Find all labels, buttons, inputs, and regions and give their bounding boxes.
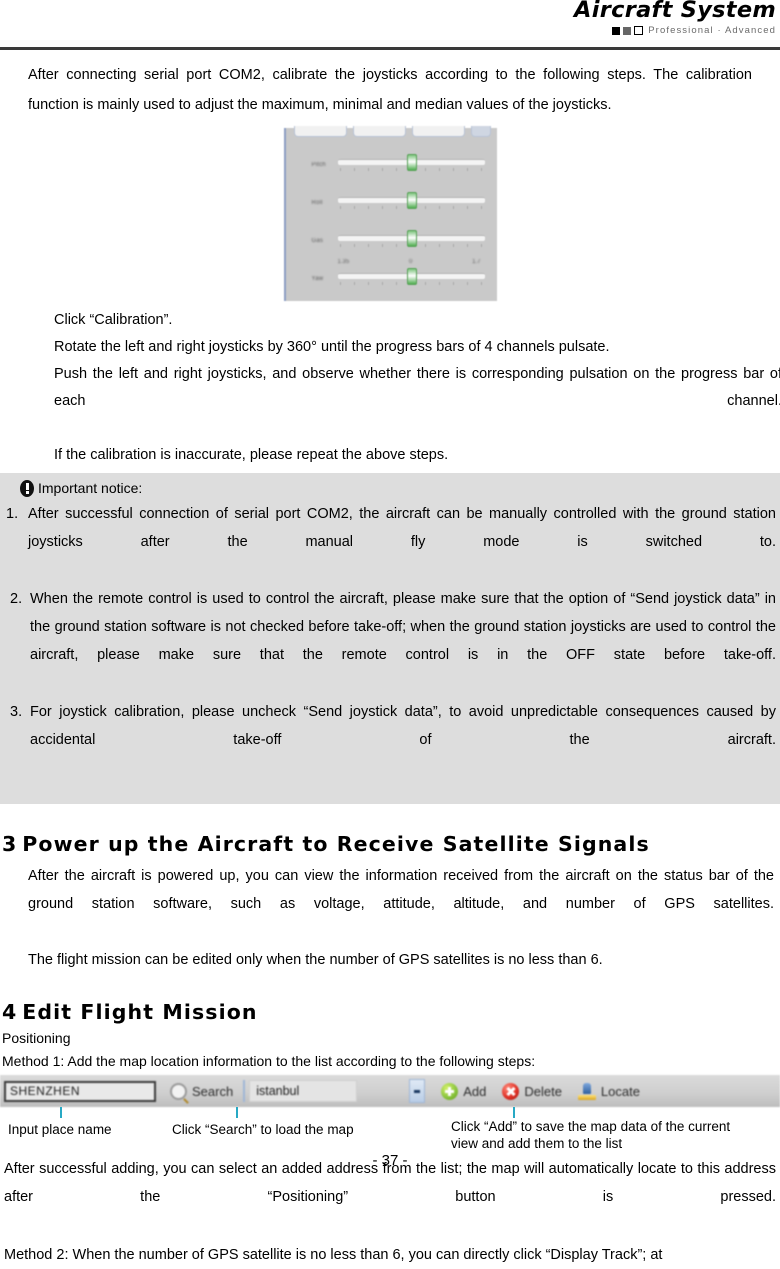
- channel-label-yaw: Yaw: [294, 276, 338, 282]
- channel-slider-gas[interactable]: [338, 235, 485, 247]
- locate-button-label: Locate: [601, 1084, 640, 1099]
- tail-paragraph-2: Method 2: When the number of GPS satelli…: [4, 1241, 776, 1269]
- channel-row-yaw: Yaw: [286, 260, 497, 298]
- calibration-figure: Pitch Roll: [2, 128, 778, 301]
- channel-label-gas: Gas: [294, 238, 338, 244]
- channel-label-pitch: Pitch: [294, 162, 338, 168]
- chevron-down-icon: [414, 1090, 420, 1093]
- callout-label-2: Click “Search” to load the map: [172, 1121, 354, 1138]
- map-toolbar-figure: SHENZHEN Search istanbul Add Delete Loca…: [0, 1075, 780, 1107]
- search-button[interactable]: Search: [170, 1083, 233, 1100]
- slider-thumb[interactable]: [407, 230, 417, 247]
- calibration-tab-2[interactable]: [353, 126, 406, 137]
- warning-exclamation-icon: [20, 480, 34, 497]
- channel-slider-pitch[interactable]: [338, 159, 485, 171]
- channel-slider-roll[interactable]: [338, 197, 485, 209]
- step-1: Click “Calibration”.: [54, 307, 778, 334]
- intro-paragraph: After connecting serial port COM2, calib…: [28, 60, 752, 120]
- calibration-tab-3[interactable]: [412, 126, 465, 137]
- channel-row-gas: Gas: [286, 222, 497, 260]
- section-3-paragraph-2: The flight mission can be edited only wh…: [28, 946, 774, 974]
- section-4-number: 4: [2, 1000, 16, 1024]
- notice-header: Important notice:: [4, 477, 776, 499]
- delete-button-label: Delete: [524, 1084, 562, 1099]
- notice-item: 1. After successful connection of serial…: [4, 500, 776, 584]
- locate-pin-icon: [578, 1083, 596, 1100]
- add-plus-icon: [441, 1083, 458, 1100]
- joystick-calibration-panel: Pitch Roll: [284, 128, 497, 301]
- page-content: After connecting serial port COM2, calib…: [0, 60, 780, 469]
- channel-row-roll: Roll: [286, 184, 497, 222]
- section-4-title: Edit Flight Mission: [22, 1000, 257, 1024]
- place-name-input[interactable]: SHENZHEN: [4, 1081, 156, 1102]
- callout-tick-3: [513, 1107, 515, 1118]
- notice-item: 3. For joystick calibration, please unch…: [4, 698, 776, 782]
- channel-row-pitch: Pitch: [286, 146, 497, 184]
- brand-logo: Aircraft System Professional · Advanced: [578, 0, 776, 36]
- section-3-number: 3: [2, 832, 16, 856]
- notice-title: Important notice:: [38, 477, 142, 499]
- city-field[interactable]: istanbul: [249, 1080, 357, 1102]
- search-icon: [170, 1083, 187, 1100]
- step-4: If the calibration is inaccurate, please…: [54, 442, 778, 469]
- add-button-label: Add: [463, 1084, 486, 1099]
- calibration-tab-strip: [294, 126, 491, 137]
- slider-thumb[interactable]: [407, 268, 417, 285]
- section-3-heading: 3Power up the Aircraft to Receive Satell…: [2, 832, 778, 856]
- calibration-tab-1[interactable]: [294, 126, 347, 137]
- positioning-subtitle: Positioning: [2, 1028, 778, 1049]
- page-content-lower: 3Power up the Aircraft to Receive Satell…: [0, 832, 780, 1072]
- slider-thumb[interactable]: [407, 192, 417, 209]
- important-notice-box: Important notice: 1. After successful co…: [0, 473, 780, 804]
- section-3-title: Power up the Aircraft to Receive Satelli…: [22, 832, 650, 856]
- brand-title: Aircraft System: [574, 0, 776, 22]
- page-number: - 37 -: [0, 1152, 780, 1169]
- slider-thumb[interactable]: [407, 154, 417, 171]
- page-header: Aircraft System Professional · Advanced: [0, 0, 780, 44]
- add-button[interactable]: Add: [441, 1083, 486, 1100]
- notice-item-text: When the remote control is used to contr…: [30, 585, 776, 697]
- header-divider: [0, 47, 780, 50]
- notice-item-number: 3.: [4, 698, 30, 782]
- notice-item-text: For joystick calibration, please uncheck…: [30, 698, 776, 782]
- search-button-label: Search: [192, 1084, 233, 1099]
- section-4-heading: 4Edit Flight Mission: [2, 1000, 778, 1024]
- step-2: Rotate the left and right joysticks by 3…: [54, 334, 778, 361]
- section-3-paragraph-1: After the aircraft is powered up, you ca…: [28, 862, 774, 946]
- callout-label-1: Input place name: [8, 1121, 112, 1138]
- step-3: Push the left and right joysticks, and o…: [54, 361, 780, 442]
- locate-button[interactable]: Locate: [578, 1083, 640, 1100]
- delete-button[interactable]: Delete: [502, 1083, 562, 1100]
- notice-item-number: 1.: [4, 500, 28, 584]
- square-outline-white-icon: [634, 26, 643, 35]
- notice-item-number: 2.: [4, 585, 30, 697]
- notice-item-text: After successful connection of serial po…: [28, 500, 776, 584]
- channel-slider-list: Pitch Roll: [286, 146, 497, 298]
- notice-item: 2. When the remote control is used to co…: [4, 585, 776, 697]
- brand-subtitle-row: Professional · Advanced: [578, 26, 776, 36]
- scale-min-label: 1.35: [338, 259, 350, 265]
- channel-label-roll: Roll: [294, 200, 338, 206]
- callout-label-3: Click “Add” to save the map data of the …: [451, 1118, 733, 1152]
- square-filled-black-icon: [612, 27, 620, 35]
- calibration-tab-4[interactable]: [471, 126, 491, 137]
- scale-mid-label: 0: [409, 259, 412, 265]
- callout-tick-1: [60, 1107, 62, 1118]
- square-filled-gray-icon: [623, 27, 631, 35]
- city-dropdown-button[interactable]: [409, 1079, 425, 1103]
- toolbar-separator: [243, 1080, 245, 1102]
- delete-cross-icon: [502, 1083, 519, 1100]
- calibration-scale: 1.35 0 1.7: [338, 259, 481, 265]
- toolbar-callouts: Input place name Click “Search” to load …: [0, 1107, 780, 1153]
- method-1-line: Method 1: Add the map location informati…: [2, 1051, 778, 1072]
- brand-squares-icon: [612, 26, 643, 35]
- channel-slider-yaw[interactable]: [338, 273, 485, 285]
- scale-max-label: 1.7: [472, 259, 480, 265]
- page-content-tail: After successful adding, you can select …: [0, 1155, 780, 1269]
- callout-tick-2: [236, 1107, 238, 1118]
- calibration-steps: Click “Calibration”. Rotate the left and…: [54, 307, 778, 469]
- brand-tagline: Professional · Advanced: [648, 26, 776, 36]
